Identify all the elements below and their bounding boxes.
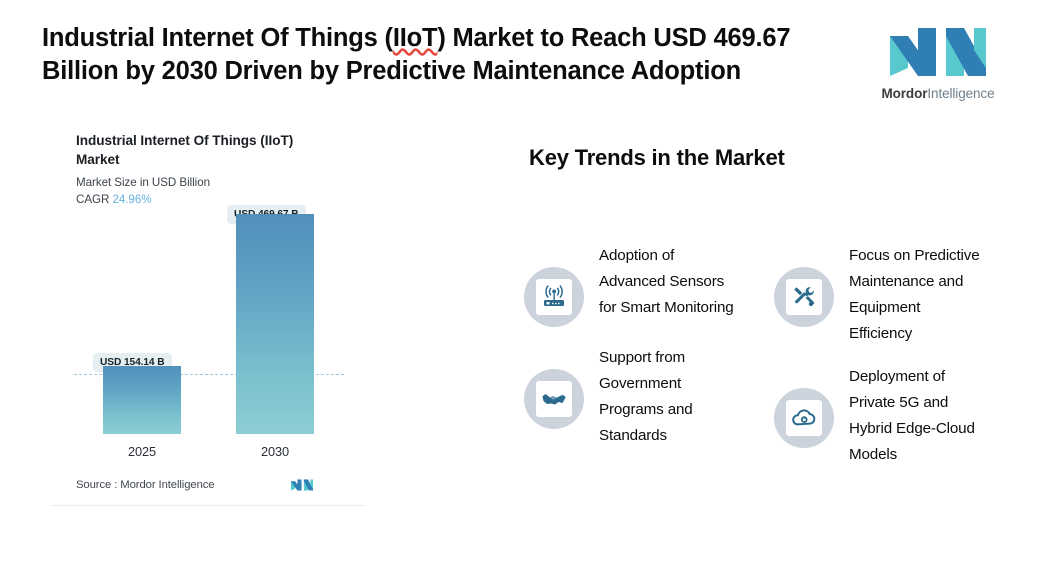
headline-iiot-misspelled: IIoT xyxy=(393,24,438,52)
bar-chart-plot: USD 154.14 B USD 469.67 B xyxy=(50,214,366,442)
bar-2025[interactable] xyxy=(103,366,181,434)
trend-item-private-5g-cloud[interactable]: Deployment of Private 5G and Hybrid Edge… xyxy=(774,364,984,467)
chart-card: Industrial Internet Of Things (IIoT) Mar… xyxy=(50,132,366,506)
cagr-label: CAGR xyxy=(76,193,109,206)
trend-icon-circle xyxy=(524,369,584,429)
cloud-sync-icon xyxy=(791,405,817,431)
trend-icon-plate xyxy=(786,400,822,436)
x-axis-labels: 2025 2030 xyxy=(50,444,366,466)
trend-text: Support from Government Programs and Sta… xyxy=(599,345,734,448)
trend-text: Deployment of Private 5G and Hybrid Edge… xyxy=(849,364,984,467)
chart-title: Industrial Internet Of Things (IIoT) Mar… xyxy=(50,132,295,170)
brand-wordmark: MordorIntelligence xyxy=(881,86,994,101)
header: Industrial Internet Of Things (IIoT) Mar… xyxy=(42,22,1002,101)
trends-column-right: Focus on Predictive Maintenance and Equi… xyxy=(774,243,984,468)
mordor-intelligence-mark-small-icon xyxy=(290,476,314,494)
trend-icon-plate xyxy=(536,381,572,417)
bar-2030[interactable] xyxy=(236,214,314,434)
page-title: Industrial Internet Of Things (IIoT) Mar… xyxy=(42,22,817,88)
headline-line-2: Billion by 2030 Driven by Predictive Mai… xyxy=(42,57,741,85)
trends-heading: Key Trends in the Market xyxy=(529,145,785,171)
trend-icon-circle xyxy=(774,267,834,327)
trend-icon-circle xyxy=(774,388,834,448)
trend-item-government-support[interactable]: Support from Government Programs and Sta… xyxy=(524,345,734,448)
chart-source-row: Source : Mordor Intelligence xyxy=(50,476,366,500)
trend-item-sensors[interactable]: Adoption of Advanced Sensors for Smart M… xyxy=(524,243,734,327)
tools-maintenance-icon xyxy=(791,284,817,310)
chart-source-text: Source : Mordor Intelligence xyxy=(76,479,214,491)
trend-icon-circle xyxy=(524,267,584,327)
chart-cagr: CAGR 24.96% xyxy=(50,193,366,206)
infographic-page: Industrial Internet Of Things (IIoT) Mar… xyxy=(0,0,1054,571)
brand-name-light: Intelligence xyxy=(927,86,994,101)
handshake-icon xyxy=(541,386,567,412)
trend-item-predictive-maintenance[interactable]: Focus on Predictive Maintenance and Equi… xyxy=(774,243,984,346)
chart-subtitle: Market Size in USD Billion xyxy=(50,176,366,189)
trend-text: Adoption of Advanced Sensors for Smart M… xyxy=(599,243,734,321)
trend-icon-plate xyxy=(536,279,572,315)
headline-part-1: Industrial Internet Of Things ( xyxy=(42,24,393,52)
trend-icon-plate xyxy=(786,279,822,315)
brand-logo: MordorIntelligence xyxy=(874,24,1002,101)
mordor-intelligence-mark-icon xyxy=(886,24,990,80)
brand-name-bold: Mordor xyxy=(881,86,927,101)
x-tick-2025: 2025 xyxy=(103,444,181,459)
x-tick-2030: 2030 xyxy=(236,444,314,459)
headline-part-2: ) Market to Reach USD 469.67 xyxy=(437,24,790,52)
wireless-sensor-icon xyxy=(541,284,567,310)
cagr-value: 24.96% xyxy=(112,193,151,206)
trend-text: Focus on Predictive Maintenance and Equi… xyxy=(849,243,984,346)
trends-column-left: Adoption of Advanced Sensors for Smart M… xyxy=(524,243,734,448)
